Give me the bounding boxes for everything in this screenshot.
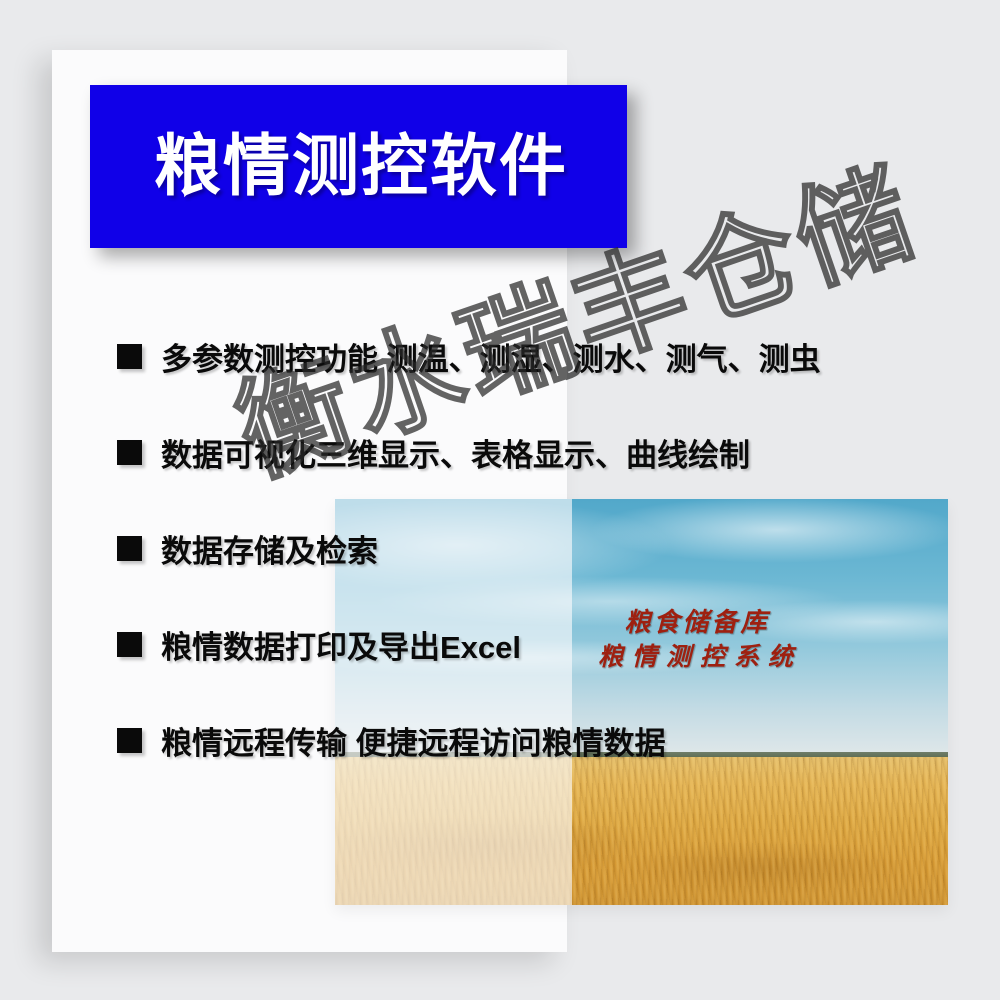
- feature-list: 多参数测控功能 测温、测湿、测水、测气、测虫 数据可视化三维显示、表格显示、曲线…: [117, 308, 877, 788]
- square-bullet-icon: [117, 536, 142, 561]
- list-item: 数据存储及检索: [117, 500, 877, 596]
- feature-label: 数据存储及检索: [161, 526, 378, 571]
- square-bullet-icon: [117, 632, 142, 657]
- square-bullet-icon: [117, 344, 142, 369]
- feature-label: 粮情远程传输 便捷远程访问粮情数据: [161, 718, 666, 763]
- feature-label: 多参数测控功能 测温、测湿、测水、测气、测虫: [161, 334, 821, 379]
- title-banner: 粮情测控软件: [90, 85, 627, 248]
- feature-label: 数据可视化三维显示、表格显示、曲线绘制: [161, 430, 750, 475]
- list-item: 粮情数据打印及导出Excel: [117, 596, 877, 692]
- poster-canvas: 粮情测控软件 多参数测控功能 测温、测湿、测水、测气、测虫 数据可视化三维显示、…: [0, 0, 1000, 1000]
- list-item: 多参数测控功能 测温、测湿、测水、测气、测虫: [117, 308, 877, 404]
- list-item: 数据可视化三维显示、表格显示、曲线绘制: [117, 404, 877, 500]
- page-title: 粮情测控软件: [154, 133, 568, 200]
- square-bullet-icon: [117, 440, 142, 465]
- square-bullet-icon: [117, 728, 142, 753]
- feature-label: 粮情数据打印及导出Excel: [161, 622, 521, 667]
- list-item: 粮情远程传输 便捷远程访问粮情数据: [117, 692, 877, 788]
